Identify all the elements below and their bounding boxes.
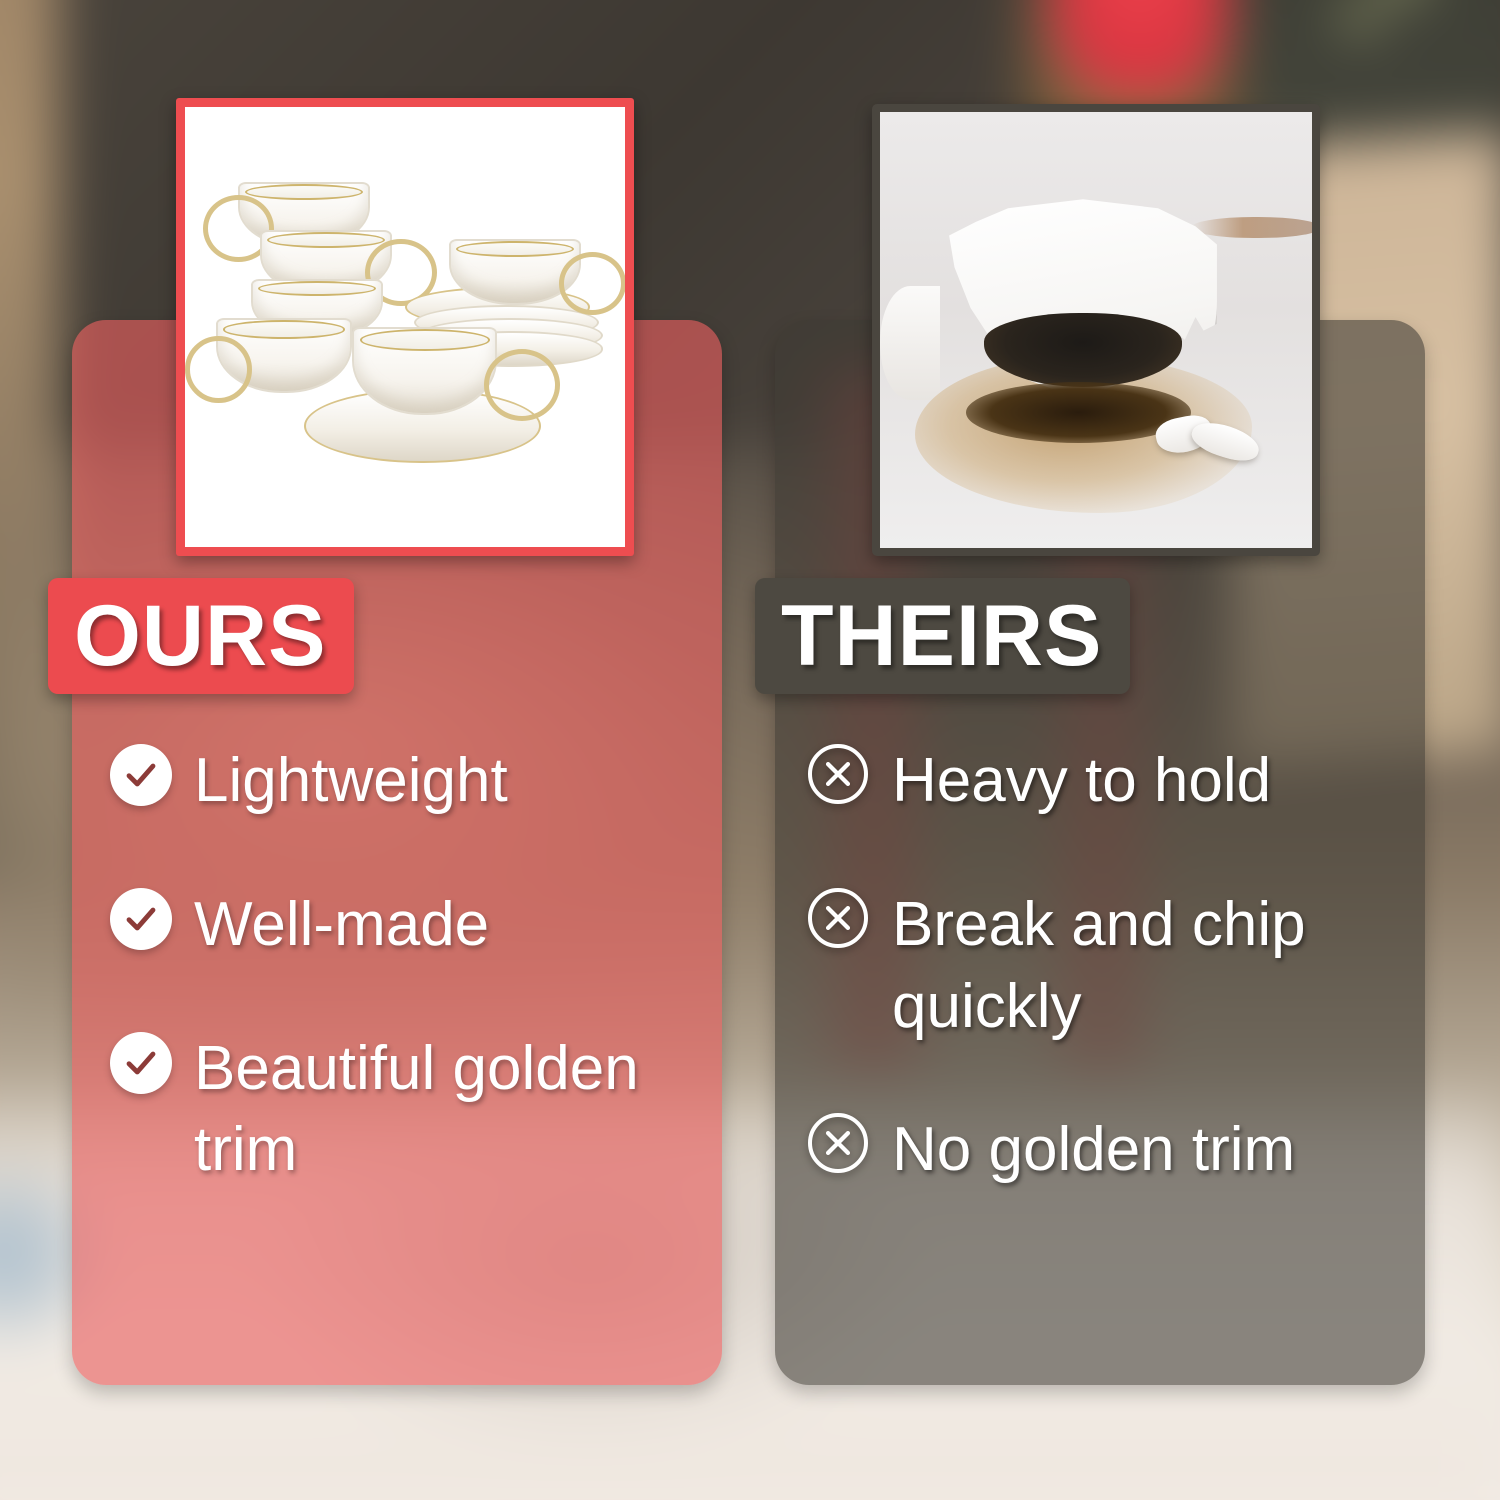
list-item: Beautiful golden trim [110,1028,710,1192]
list-item: No golden trim [808,1109,1408,1191]
coffee-streak [1191,217,1312,239]
list-item-label: Break and chip quickly [892,884,1372,1048]
list-item: Well-made [110,884,710,966]
list-item: Heavy to hold [808,740,1408,822]
badge-theirs: THEIRS [755,578,1130,694]
list-item-label: No golden trim [892,1109,1295,1191]
badge-ours-label: OURS [74,593,326,679]
feature-list-theirs: Heavy to hold Break and chip quickly No … [808,740,1408,1253]
cup-rim [267,232,385,248]
list-item: Lightweight [110,740,710,822]
badge-theirs-label: THEIRS [781,593,1102,679]
cup-fragment [880,286,940,399]
product-photo-ours [176,98,634,556]
cup-rim [258,281,376,296]
teacup-handle [185,336,252,403]
x-circle-icon [808,888,870,950]
background-green-light-2 [1330,0,1390,34]
list-item-label: Beautiful golden trim [194,1028,694,1192]
list-item-label: Heavy to hold [892,740,1271,822]
x-circle-icon [808,744,870,806]
cup-rim [360,329,490,351]
badge-ours: OURS [48,578,354,694]
x-circle-icon [808,1113,870,1175]
teacup-handle [484,349,560,421]
teacup-handle [559,252,625,315]
comparison-infographic: OURS THEIRS Lightweight Well-made [0,0,1500,1500]
broken-cup-image [880,112,1312,548]
teacup-set-image [185,107,625,547]
list-item: Break and chip quickly [808,884,1408,1048]
check-circle-icon [110,1032,172,1094]
feature-list-ours: Lightweight Well-made Beautiful golden t… [110,740,710,1253]
list-item-label: Well-made [194,884,489,966]
cup-rim [456,241,574,257]
check-circle-icon [110,888,172,950]
product-photo-theirs [872,104,1320,556]
cup-rim [245,184,363,200]
check-circle-icon [110,744,172,806]
list-item-label: Lightweight [194,740,508,822]
cup-rim [223,320,345,338]
